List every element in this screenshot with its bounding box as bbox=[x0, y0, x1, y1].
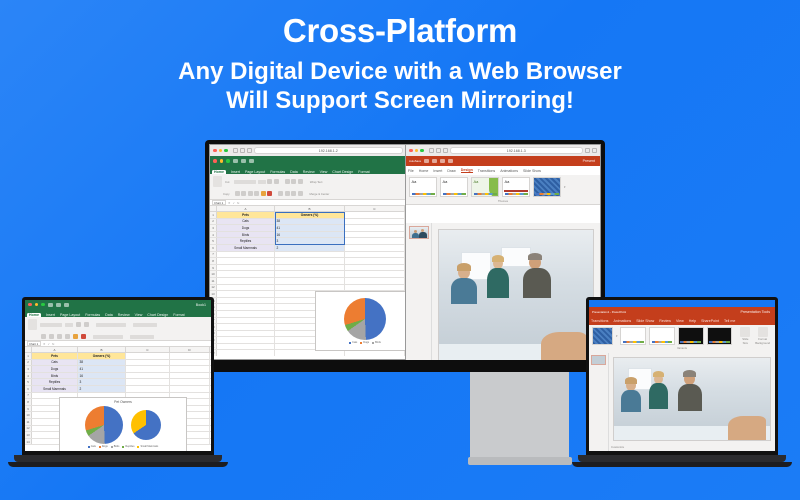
left-excel-grid[interactable]: A B C D 1PetsOwners (%)2Cats383Dogs414Bi… bbox=[25, 347, 211, 451]
cell-C6[interactable] bbox=[345, 245, 405, 251]
left-excel-ribbon[interactable] bbox=[25, 317, 211, 341]
align-left-icon[interactable] bbox=[278, 191, 283, 196]
insert-function-icon[interactable]: fx bbox=[237, 201, 239, 205]
cell-C3[interactable] bbox=[345, 225, 405, 231]
photo-whiteboard-right bbox=[501, 247, 531, 267]
excel-ribbon[interactable]: Cut Wrap Text bbox=[210, 174, 420, 200]
present-button[interactable]: Present bbox=[583, 159, 597, 163]
ribbon-row-2: Copy bbox=[210, 189, 420, 198]
align-middle-icon[interactable] bbox=[291, 179, 296, 184]
left-maximize-icon[interactable] bbox=[41, 303, 45, 307]
left-align-row[interactable] bbox=[93, 335, 123, 339]
fill-color-icon[interactable] bbox=[261, 191, 266, 196]
column-header-c[interactable]: C bbox=[345, 206, 405, 211]
left-swatch-cats bbox=[88, 446, 90, 448]
themes-more-icon[interactable]: ▾ bbox=[564, 185, 565, 189]
pp-close-icon[interactable] bbox=[409, 149, 413, 153]
right-variants-label: Variants bbox=[592, 346, 772, 350]
left-minimize-icon[interactable] bbox=[35, 303, 39, 307]
cell-D2[interactable] bbox=[170, 360, 210, 366]
cell-C1[interactable] bbox=[126, 353, 170, 359]
row-header[interactable]: 9 bbox=[210, 265, 217, 271]
cell-b8[interactable] bbox=[275, 258, 345, 264]
right-variant-2[interactable] bbox=[649, 327, 675, 345]
pp-redo-icon[interactable] bbox=[440, 159, 445, 163]
cell-D3[interactable] bbox=[170, 366, 210, 372]
headline-subtitle-2: Will Support Screen Mirroring! bbox=[0, 86, 800, 115]
thumb-person-body bbox=[412, 233, 419, 238]
powerpoint-window-monitor[interactable]: 192.168.1.3 AutoSave Present File Home I… bbox=[405, 144, 601, 360]
cell-C7[interactable] bbox=[345, 252, 405, 258]
table-row[interactable]: 5Reptiles3 bbox=[210, 238, 420, 245]
right-variant-1[interactable] bbox=[620, 327, 646, 345]
table-row[interactable]: 1PetsOwners (%) bbox=[210, 212, 420, 219]
cell-b4[interactable]: 16 bbox=[275, 232, 345, 238]
right-tab-animations[interactable]: Animations bbox=[613, 319, 631, 323]
pp-window-controls[interactable] bbox=[409, 149, 424, 153]
photo-foreground-hands bbox=[541, 332, 587, 360]
cell-b5[interactable]: 3 bbox=[275, 238, 345, 244]
alignment-group bbox=[285, 179, 303, 184]
row-header[interactable]: 10 bbox=[210, 271, 217, 277]
theme-letters-2: Aa bbox=[441, 178, 467, 184]
right-tab-transitions[interactable]: Transitions bbox=[591, 319, 608, 323]
cell-a16[interactable] bbox=[217, 311, 275, 317]
font-name-box[interactable] bbox=[234, 180, 256, 184]
left-font-color-icon[interactable] bbox=[81, 334, 86, 339]
table-row[interactable]: 6Small Mammals2 bbox=[25, 386, 211, 393]
right-tab-tell-me[interactable]: Tell me bbox=[724, 319, 735, 323]
copy-label[interactable]: Copy bbox=[223, 192, 230, 196]
pp-sidebar-icon[interactable] bbox=[443, 148, 448, 153]
cell-D4[interactable] bbox=[170, 373, 210, 379]
left-column-header-a[interactable]: A bbox=[32, 347, 78, 352]
left-alignment-row[interactable] bbox=[96, 323, 126, 327]
cell-C11[interactable] bbox=[345, 278, 405, 284]
row-header[interactable]: 14 bbox=[25, 439, 32, 445]
table-row[interactable]: 1PetsOwners (%) bbox=[25, 353, 211, 360]
right-thumbnail-pane[interactable] bbox=[589, 353, 609, 451]
cell-D5[interactable] bbox=[170, 379, 210, 385]
row-header[interactable]: 6 bbox=[25, 386, 32, 392]
left-ribbon-row-1 bbox=[25, 317, 211, 332]
cell-C5[interactable] bbox=[126, 379, 170, 385]
format-background-icon bbox=[758, 327, 768, 337]
cell-C2[interactable] bbox=[126, 360, 170, 366]
left-excel-titlebar: Book1 bbox=[25, 300, 211, 309]
cell-C9[interactable] bbox=[345, 265, 405, 271]
font-color-icon[interactable] bbox=[267, 191, 272, 196]
left-save-icon[interactable] bbox=[48, 303, 53, 307]
table-row[interactable]: 2Cats38 bbox=[25, 360, 211, 367]
right-tab-help[interactable]: Help bbox=[689, 319, 696, 323]
cell-a22[interactable] bbox=[217, 350, 275, 356]
cell-b1[interactable]: Owners (%) bbox=[275, 212, 345, 218]
left-corner-selector[interactable] bbox=[25, 347, 32, 352]
underline-icon[interactable] bbox=[248, 191, 253, 196]
maximize-icon[interactable] bbox=[224, 149, 228, 153]
cell-a10[interactable] bbox=[217, 271, 275, 277]
cell-a20[interactable] bbox=[217, 337, 275, 343]
left-styles-row[interactable] bbox=[130, 335, 154, 339]
powerpoint-titlebar: AutoSave Present bbox=[406, 156, 600, 166]
primary-pie bbox=[85, 406, 123, 444]
cell-a2[interactable]: Cats bbox=[32, 360, 78, 366]
cell-a3[interactable]: Dogs bbox=[32, 366, 78, 372]
cell-D1[interactable] bbox=[170, 353, 210, 359]
cut-label[interactable]: Cut bbox=[225, 180, 229, 184]
left-bold-icon[interactable] bbox=[41, 334, 46, 339]
row-header[interactable]: 9 bbox=[25, 406, 32, 412]
cell-a21[interactable] bbox=[217, 344, 275, 350]
cell-b2[interactable]: 38 bbox=[78, 360, 126, 366]
chart-legend-monitor: Cats Dogs Birds bbox=[316, 341, 414, 344]
name-box[interactable]: Chart 1 bbox=[212, 200, 226, 205]
cell-b9[interactable] bbox=[275, 265, 345, 271]
right-laptop-base bbox=[572, 462, 792, 467]
left-fx-icon[interactable]: fx bbox=[52, 342, 54, 346]
cell-a11[interactable] bbox=[217, 278, 275, 284]
table-row[interactable]: 4Birds16 bbox=[210, 232, 420, 239]
left-label-birds: Birds bbox=[114, 445, 120, 448]
font-group bbox=[234, 179, 279, 184]
pp-present-icon[interactable] bbox=[448, 159, 453, 163]
cell-a15[interactable] bbox=[217, 304, 275, 310]
cell-b11[interactable] bbox=[275, 278, 345, 284]
right-variant-3[interactable] bbox=[678, 327, 704, 345]
row-header[interactable]: 8 bbox=[25, 399, 32, 405]
browser-address-bar[interactable]: 192.168.1.2 bbox=[254, 147, 404, 154]
left-italic-icon[interactable] bbox=[49, 334, 54, 339]
cell-C6[interactable] bbox=[126, 386, 170, 392]
close-icon[interactable] bbox=[213, 149, 217, 153]
table-row[interactable]: 5Reptiles3 bbox=[25, 379, 211, 386]
corner-selector[interactable] bbox=[210, 206, 217, 211]
left-borders-icon[interactable] bbox=[65, 334, 70, 339]
row-header[interactable]: 8 bbox=[210, 258, 217, 264]
cell-a3[interactable]: Dogs bbox=[217, 225, 275, 231]
cell-a19[interactable] bbox=[217, 331, 275, 337]
slide-photo bbox=[439, 230, 593, 360]
row-header[interactable]: 13 bbox=[25, 432, 32, 438]
cell-C3[interactable] bbox=[126, 366, 170, 372]
cell-b22[interactable] bbox=[275, 350, 345, 356]
cell-C22[interactable] bbox=[345, 350, 405, 356]
cell-a5[interactable]: Reptiles bbox=[32, 379, 78, 385]
increase-font-icon[interactable] bbox=[267, 179, 272, 184]
slide-size-button[interactable]: Slide Size bbox=[740, 327, 750, 345]
cell-b2[interactable]: 38 bbox=[275, 219, 345, 225]
theme-palette-4 bbox=[505, 193, 528, 195]
left-font-size-box[interactable] bbox=[65, 323, 73, 327]
row-header[interactable]: 4 bbox=[25, 373, 32, 379]
cell-a7[interactable] bbox=[217, 252, 275, 258]
right-slide-thumbnail-1[interactable] bbox=[591, 355, 606, 365]
pp-tab-animations[interactable]: Animations bbox=[500, 169, 518, 173]
slide-thumbnail-pane[interactable] bbox=[406, 223, 432, 360]
table-row[interactable]: 7 bbox=[210, 252, 420, 259]
cell-b6[interactable]: 2 bbox=[275, 245, 345, 251]
cell-a13[interactable] bbox=[217, 291, 275, 297]
column-header-a[interactable]: A bbox=[217, 206, 275, 211]
left-excel-tabs[interactable]: Home Insert Page Layout Formulas Data Re… bbox=[25, 309, 211, 317]
left-increase-font-icon[interactable] bbox=[76, 322, 81, 327]
cell-a1[interactable]: Pets bbox=[32, 353, 78, 359]
font-size-box[interactable] bbox=[258, 180, 266, 184]
left-enter-icon[interactable]: ✓ bbox=[48, 342, 51, 346]
left-paste-button[interactable] bbox=[28, 319, 37, 330]
table-row[interactable]: 3Dogs41 bbox=[25, 366, 211, 373]
pp-tab-draw[interactable]: Draw bbox=[447, 169, 455, 173]
row-header[interactable]: 3 bbox=[210, 225, 217, 231]
align-bottom-icon[interactable] bbox=[298, 179, 303, 184]
row-header[interactable]: 2 bbox=[210, 219, 217, 225]
pp-mac-titlebar[interactable]: 192.168.1.3 bbox=[406, 145, 600, 156]
themes-gallery[interactable]: Aa Aa Aa Aa bbox=[409, 177, 597, 197]
table-row[interactable]: 10 bbox=[210, 271, 420, 278]
excel-ribbon-tabs[interactable]: Home Insert Page Layout Formulas Data Re… bbox=[210, 166, 420, 174]
table-row[interactable]: 4Birds16 bbox=[25, 373, 211, 380]
right-photo-person3-body bbox=[678, 384, 702, 411]
right-pp-ribbon[interactable]: ▾ Slide Size bbox=[589, 325, 775, 355]
paste-button[interactable] bbox=[213, 176, 222, 187]
pie-chart-graphic bbox=[344, 298, 386, 340]
cell-b10[interactable] bbox=[275, 271, 345, 277]
row-header[interactable]: 5 bbox=[25, 379, 32, 385]
clipboard-group-2: Copy bbox=[223, 192, 230, 196]
right-tab-review[interactable]: Review bbox=[659, 319, 671, 323]
table-row[interactable]: 9 bbox=[210, 265, 420, 272]
pp-undo-icon[interactable] bbox=[432, 159, 437, 163]
right-tab-view[interactable]: View bbox=[676, 319, 684, 323]
right-pp-tabs[interactable]: Transitions Animations Slide Show Review… bbox=[589, 316, 775, 325]
powerpoint-ribbon[interactable]: Aa Aa Aa Aa bbox=[406, 175, 600, 205]
left-undo-icon[interactable] bbox=[56, 303, 61, 307]
row-header[interactable]: 12 bbox=[25, 426, 32, 432]
cell-C8[interactable] bbox=[345, 258, 405, 264]
row-header[interactable]: 11 bbox=[210, 278, 217, 284]
left-number-format[interactable] bbox=[133, 323, 157, 327]
left-redo-icon[interactable] bbox=[64, 303, 69, 307]
row-header[interactable]: 3 bbox=[25, 366, 32, 372]
table-row[interactable]: 11 bbox=[210, 278, 420, 285]
pp-tab-design[interactable]: Design bbox=[461, 168, 473, 173]
cell-C5[interactable] bbox=[345, 238, 405, 244]
left-laptop-lid: Book1 Home Insert Page Layout Formulas D… bbox=[22, 297, 214, 455]
pp-maximize-icon[interactable] bbox=[420, 149, 424, 153]
excel-minimize-icon[interactable] bbox=[220, 159, 224, 163]
row-header[interactable]: 4 bbox=[210, 232, 217, 238]
cell-b7[interactable] bbox=[275, 252, 345, 258]
merge-center-label[interactable]: Merge & Center bbox=[310, 192, 330, 196]
cell-a18[interactable] bbox=[217, 324, 275, 330]
cancel-formula-icon[interactable]: ✕ bbox=[228, 201, 231, 205]
theme-card-2[interactable]: Aa bbox=[440, 177, 468, 197]
theme-card-3[interactable]: Aa bbox=[471, 177, 499, 197]
right-slide-canvas[interactable] bbox=[613, 357, 771, 441]
table-row[interactable]: 22 bbox=[210, 350, 420, 356]
borders-icon[interactable] bbox=[254, 191, 259, 196]
cell-b3[interactable]: 41 bbox=[275, 225, 345, 231]
table-row[interactable]: 3Dogs41 bbox=[210, 225, 420, 232]
cell-b6[interactable]: 2 bbox=[78, 386, 126, 392]
undo-icon[interactable] bbox=[241, 159, 246, 163]
back-icon[interactable] bbox=[233, 148, 238, 153]
pp-tab-home[interactable]: Home bbox=[419, 169, 429, 173]
pp-save-icon[interactable] bbox=[424, 159, 429, 163]
cell-C1[interactable] bbox=[345, 212, 405, 218]
pp-share-icon[interactable] bbox=[585, 148, 590, 153]
right-theme-card-1[interactable] bbox=[592, 327, 613, 345]
enter-formula-icon[interactable]: ✓ bbox=[233, 201, 236, 205]
pp-tab-transitions[interactable]: Transitions bbox=[478, 169, 495, 173]
right-tab-sharepoint[interactable]: SharePoint bbox=[701, 319, 719, 323]
pp-tab-file[interactable]: File bbox=[408, 169, 414, 173]
left-column-header-c[interactable]: C bbox=[126, 347, 170, 352]
left-label-small-mammals: Small Mammals bbox=[140, 445, 158, 448]
slide-thumbnail-1[interactable] bbox=[409, 226, 429, 239]
left-column-header-b[interactable]: B bbox=[78, 347, 126, 352]
wrap-text-label[interactable]: Wrap Text bbox=[310, 180, 323, 184]
row-header[interactable]: 1 bbox=[25, 353, 32, 359]
cell-a6[interactable]: Small Mammals bbox=[217, 245, 275, 251]
row-header[interactable]: 2 bbox=[25, 360, 32, 366]
row-header[interactable]: 5 bbox=[210, 238, 217, 244]
photo-person1-body bbox=[451, 278, 477, 304]
cell-b5[interactable]: 3 bbox=[78, 379, 126, 385]
forward-icon[interactable] bbox=[240, 148, 245, 153]
indent-icon[interactable] bbox=[298, 191, 303, 196]
align-right-icon[interactable] bbox=[291, 191, 296, 196]
bold-icon[interactable] bbox=[235, 191, 240, 196]
theme-palette-1 bbox=[412, 193, 435, 195]
row-header[interactable]: 7 bbox=[210, 252, 217, 258]
slide-canvas[interactable] bbox=[438, 229, 594, 360]
right-variant-strip-2 bbox=[652, 341, 673, 343]
excel-mac-titlebar[interactable]: 192.168.1.2 bbox=[210, 145, 420, 156]
pp-tab-slide-show[interactable]: Slide Show bbox=[523, 169, 541, 173]
right-variant-strip-1 bbox=[623, 341, 644, 343]
pp-tab-insert[interactable]: Insert bbox=[433, 169, 442, 173]
row-header[interactable]: 13 bbox=[210, 291, 217, 297]
left-name-box[interactable]: Chart 1 bbox=[27, 341, 41, 346]
align-center-icon[interactable] bbox=[285, 191, 290, 196]
left-close-icon[interactable] bbox=[28, 303, 32, 307]
cell-C10[interactable] bbox=[345, 271, 405, 277]
left-cancel-icon[interactable]: ✕ bbox=[43, 342, 46, 346]
theme-accent-4 bbox=[504, 190, 528, 192]
left-swatch-dogs bbox=[99, 446, 101, 448]
theme-card-1[interactable]: Aa bbox=[409, 177, 437, 197]
left-font-name-box[interactable] bbox=[40, 323, 62, 327]
pie-chart-object-monitor[interactable]: Pet Cats Dogs Birds bbox=[315, 291, 415, 351]
right-photo-person3-hair bbox=[683, 370, 696, 377]
pp-forward-icon[interactable] bbox=[436, 148, 441, 153]
row-header[interactable]: 12 bbox=[210, 285, 217, 291]
excel-maximize-icon[interactable] bbox=[226, 159, 230, 163]
excel-window-monitor[interactable]: 192.168.1.2 Book1 Home Insert Page Layou… bbox=[209, 144, 421, 360]
left-fill-color-icon[interactable] bbox=[73, 334, 78, 339]
cell-a4[interactable]: Birds bbox=[32, 373, 78, 379]
align-top-icon[interactable] bbox=[285, 179, 290, 184]
theme-card-5[interactable] bbox=[533, 177, 561, 197]
row-header[interactable]: 10 bbox=[25, 412, 32, 418]
cell-C2[interactable] bbox=[345, 219, 405, 225]
row-header[interactable]: 7 bbox=[25, 393, 32, 399]
sidebar-icon[interactable] bbox=[247, 148, 252, 153]
theme-letters-1: Aa bbox=[410, 178, 436, 184]
left-swatch-birds bbox=[111, 446, 113, 448]
cell-a4[interactable]: Birds bbox=[217, 232, 275, 238]
column-header-b[interactable]: B bbox=[275, 206, 345, 211]
powerpoint-ribbon-tabs[interactable]: File Home Insert Draw Design Transitions… bbox=[406, 166, 600, 175]
cell-a5[interactable]: Reptiles bbox=[217, 238, 275, 244]
row-header[interactable]: 6 bbox=[210, 245, 217, 251]
left-chart-title: Pet Owners bbox=[60, 398, 186, 404]
minimize-icon[interactable] bbox=[219, 149, 223, 153]
photo-person2-body bbox=[487, 268, 509, 298]
cell-a6[interactable]: Small Mammals bbox=[32, 386, 78, 392]
excel-close-icon[interactable] bbox=[213, 159, 217, 163]
cell-a1[interactable]: Pets bbox=[217, 212, 275, 218]
right-gallery-more-icon[interactable]: ▾ bbox=[616, 334, 617, 338]
decrease-font-icon[interactable] bbox=[274, 179, 279, 184]
cell-a9[interactable] bbox=[217, 265, 275, 271]
italic-icon[interactable] bbox=[241, 191, 246, 196]
autosave-label[interactable]: AutoSave bbox=[409, 159, 421, 163]
row-header[interactable]: 1 bbox=[210, 212, 217, 218]
right-tab-slide-show[interactable]: Slide Show bbox=[636, 319, 654, 323]
right-pp-titlebar: Presentation1 - PowerPoint Presentation … bbox=[589, 307, 775, 316]
window-controls[interactable] bbox=[213, 149, 228, 153]
table-row[interactable]: 2Cats38 bbox=[210, 219, 420, 226]
format-background-button[interactable]: Format Background bbox=[753, 327, 772, 345]
right-variant-4[interactable] bbox=[707, 327, 733, 345]
excel-grid-monitor[interactable]: A B C 1PetsOwners (%)2Cats383Dogs414Bird… bbox=[210, 206, 420, 356]
cell-a2[interactable]: Cats bbox=[217, 219, 275, 225]
cell-a14[interactable] bbox=[217, 298, 275, 304]
legend-label-cats: Cats bbox=[352, 341, 357, 344]
left-column-header-d[interactable]: D bbox=[170, 347, 210, 352]
cell-b3[interactable]: 41 bbox=[78, 366, 126, 372]
redo-icon[interactable] bbox=[249, 159, 254, 163]
cell-a12[interactable] bbox=[217, 285, 275, 291]
save-icon[interactable] bbox=[233, 159, 238, 163]
cell-b1[interactable]: Owners (%) bbox=[78, 353, 126, 359]
row-header[interactable]: 11 bbox=[25, 419, 32, 425]
pie-of-pie-graphic bbox=[60, 406, 186, 444]
pp-back-icon[interactable] bbox=[429, 148, 434, 153]
cell-b12[interactable] bbox=[275, 285, 345, 291]
cell-a17[interactable] bbox=[217, 318, 275, 324]
cell-a8[interactable] bbox=[217, 258, 275, 264]
theme-card-4[interactable]: Aa bbox=[502, 177, 530, 197]
cell-D6[interactable] bbox=[170, 386, 210, 392]
cell-C12[interactable] bbox=[345, 285, 405, 291]
cell-b4[interactable]: 16 bbox=[78, 373, 126, 379]
pp-browser-address-bar[interactable]: 192.168.1.3 bbox=[450, 147, 584, 154]
left-underline-icon[interactable] bbox=[57, 334, 62, 339]
table-row[interactable]: 8 bbox=[210, 258, 420, 265]
cell-C4[interactable] bbox=[126, 373, 170, 379]
pp-minimize-icon[interactable] bbox=[415, 149, 419, 153]
table-row[interactable]: 6Small Mammals2 bbox=[210, 245, 420, 252]
cell-C4[interactable] bbox=[345, 232, 405, 238]
right-variants-gallery[interactable]: ▾ Slide Size bbox=[592, 327, 772, 345]
pp-new-tab-icon[interactable] bbox=[592, 148, 597, 153]
left-decrease-font-icon[interactable] bbox=[84, 322, 89, 327]
pie-chart-object-left[interactable]: Pet Owners Cats Dogs bbox=[59, 397, 187, 451]
